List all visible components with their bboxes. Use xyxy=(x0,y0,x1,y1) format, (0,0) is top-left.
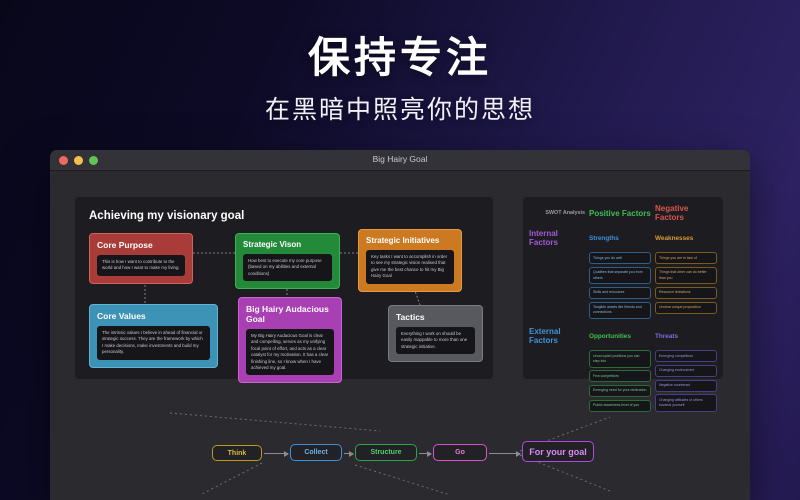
swot-chip[interactable]: Things you are in lack of xyxy=(655,252,717,264)
window-title: Big Hairy Goal xyxy=(50,154,750,164)
card-body: Everything I work on should be easily ma… xyxy=(396,327,475,354)
card-strategic-initiatives[interactable]: Strategic Initiatives Key tasks I want t… xyxy=(358,229,462,292)
swot-chip[interactable]: Tangible assets like friends and connect… xyxy=(589,302,651,320)
card-tactics[interactable]: Tactics Everything I work on should be e… xyxy=(388,305,483,362)
swot-strengths-label: Strengths xyxy=(589,235,651,242)
mindmap-canvas[interactable]: Achieving my visionary goal Core Purpose… xyxy=(50,171,750,500)
hero-title: 保持专注 xyxy=(0,34,800,82)
swot-chip[interactable]: Resource limitations xyxy=(655,287,717,299)
swot-negative-factors-label: Negative Factors xyxy=(655,204,717,222)
swot-chip[interactable]: Things that other can do better than you xyxy=(655,267,717,285)
swot-internal-row: Internal Factors Strengths Weaknesses xyxy=(529,229,717,247)
card-title: Tactics xyxy=(396,312,475,322)
swot-external-row: External Factors Opportunities Threats xyxy=(529,327,717,345)
flow-node-collect[interactable]: Collect xyxy=(290,444,342,461)
swot-positive-factors-label: Positive Factors xyxy=(589,209,651,218)
board-title: Achieving my visionary goal xyxy=(89,210,244,222)
swot-opportunities-label: Opportunities xyxy=(589,333,651,340)
swot-weaknesses-list: Things you are in lack of Things that ot… xyxy=(655,252,717,319)
card-title: Strategic Vison xyxy=(243,240,332,249)
swot-chip[interactable]: Skills and resources xyxy=(589,287,651,299)
card-body: My Big Hairy Audacious Goal is clear and… xyxy=(246,329,334,375)
window-titlebar: Big Hairy Goal xyxy=(50,150,750,171)
swot-internal-factors-label: Internal Factors xyxy=(529,229,585,247)
visionary-goal-board: Achieving my visionary goal Core Purpose… xyxy=(75,197,493,379)
swot-chip[interactable]: Emerging need for your dedication xyxy=(589,385,651,397)
flow-arrow xyxy=(264,453,288,454)
swot-chip[interactable]: Unoccupied positions you can step into xyxy=(589,350,651,368)
swot-chip[interactable]: Negative counteract xyxy=(655,380,717,392)
card-big-hairy-audacious-goal[interactable]: Big Hairy Audacious Goal My Big Hairy Au… xyxy=(238,297,342,383)
card-title: Core Values xyxy=(97,311,210,321)
swot-chip[interactable]: Unclear unique proposition xyxy=(655,302,717,314)
card-title: Core Purpose xyxy=(97,240,185,250)
flow-node-structure[interactable]: Structure xyxy=(355,444,417,461)
flow-node-think[interactable]: Think xyxy=(212,445,262,461)
swot-header-row: SWOT Analysis Positive Factors Negative … xyxy=(529,204,717,222)
card-body: The intrinsic values I believe in ahead … xyxy=(97,326,210,360)
card-strategic-vision[interactable]: Strategic Vison How best to execute my c… xyxy=(235,233,340,289)
hero-banner: 保持专注 在黑暗中照亮你的思想 xyxy=(0,34,800,126)
card-title: Strategic Initiatives xyxy=(366,236,454,245)
card-body: This is how I want to contribute to the … xyxy=(97,255,185,276)
swot-weaknesses-label: Weaknesses xyxy=(655,235,717,242)
hero-subtitle: 在黑暗中照亮你的思想 xyxy=(0,90,800,126)
swot-external-factors-label: External Factors xyxy=(529,327,585,345)
app-window: Big Hairy Goal Achieving my visionary go… xyxy=(50,150,750,500)
swot-chip[interactable]: Things you do well xyxy=(589,252,651,264)
swot-threats-label: Threats xyxy=(655,333,717,340)
card-title: Big Hairy Audacious Goal xyxy=(246,304,334,324)
swot-chip[interactable]: Qualities that separate you from others xyxy=(589,267,651,285)
flow-node-go[interactable]: Go xyxy=(433,444,487,461)
swot-chip[interactable]: Emerging competitors xyxy=(655,350,717,362)
swot-chip[interactable]: Changing environment xyxy=(655,365,717,377)
swot-analysis-label: SWOT Analysis xyxy=(529,210,585,216)
swot-strengths-list: Things you do well Qualities that separa… xyxy=(589,252,651,319)
flow-arrow xyxy=(489,453,520,454)
card-core-purpose[interactable]: Core Purpose This is how I want to contr… xyxy=(89,233,193,284)
card-core-values[interactable]: Core Values The intrinsic values I belie… xyxy=(89,304,218,368)
swot-analysis-panel: SWOT Analysis Positive Factors Negative … xyxy=(523,197,723,379)
flow-node-for-your-goal[interactable]: For your goal xyxy=(522,441,594,462)
card-body: How best to execute my core purpose (bas… xyxy=(243,254,332,281)
process-flow-diagram: Think Collect Structure Go For your goal xyxy=(50,403,750,500)
swot-chip[interactable]: Few competitors xyxy=(589,370,651,382)
swot-internal-content: Things you do well Qualities that separa… xyxy=(529,250,717,319)
flow-arrow xyxy=(344,453,353,454)
card-body: Key tasks I want to accomplish in order … xyxy=(366,250,454,284)
flow-arrow xyxy=(419,453,431,454)
